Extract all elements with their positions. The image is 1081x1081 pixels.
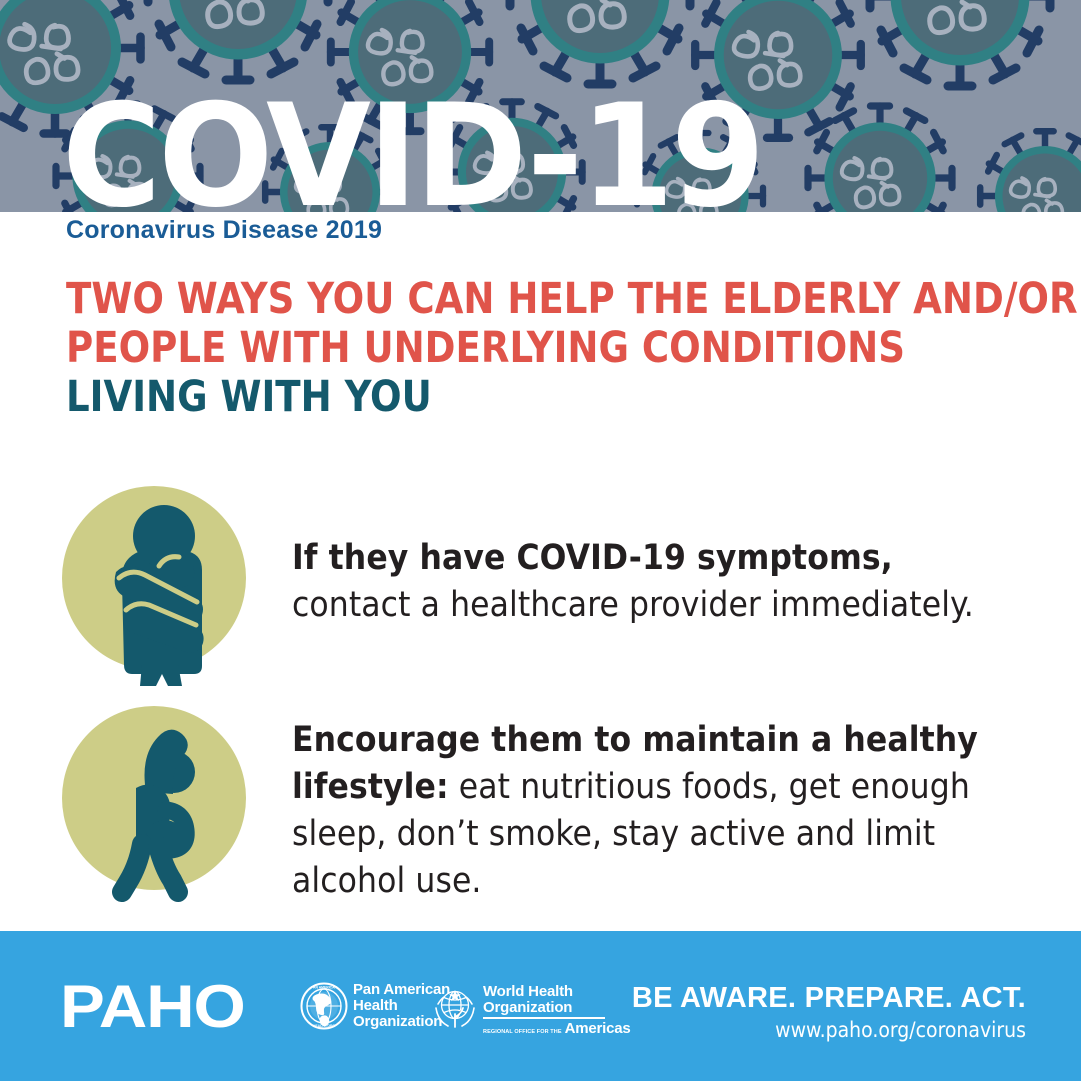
footer-url[interactable]: www.paho.org/coronavirus [775,1018,1026,1042]
who-regional-small: REGIONAL OFFICE FOR THE [483,1029,562,1036]
person-coughing-into-elbow-icon [62,486,246,686]
person-stretching-active-icon [62,706,246,906]
headline-line-3: LIVING WITH YOU [66,373,959,422]
headline-block: TWO WAYS YOU CAN HELP THE ELDERLY AND/OR… [66,275,996,422]
headline-line-1: TWO WAYS YOU CAN HELP THE ELDERLY AND/OR [66,275,959,324]
who-org-line-2: Organization [483,1000,605,1019]
tip-2-icon-wrap [62,706,246,890]
tip-1-icon-wrap [62,486,246,670]
covid-subtitle: Coronavirus Disease 2019 [66,216,382,245]
footer-slogan: BE AWARE. PREPARE. ACT. [632,982,1026,1014]
who-organization-text: World Health Organization REGIONAL OFFIC… [483,984,631,1036]
tip-1-text: If they have COVID-19 symptoms, contact … [292,486,1012,629]
tip-2-text: Encourage them to maintain a healthy lif… [292,706,1012,905]
who-organization-logo: World Health Organization REGIONAL OFFIC… [432,984,631,1036]
who-org-line-1: World Health [483,984,631,1000]
covid-infographic-poster: COVID-19 Coronavirus Disease 2019 TWO WA… [0,0,1081,1081]
header-band: COVID-19 [0,0,1081,212]
who-regional-americas: Americas [565,1021,631,1036]
who-regional-row: REGIONAL OFFICE FOR THE Americas [483,1021,631,1036]
headline-line-2: PEOPLE WITH UNDERLYING CONDITIONS [66,324,959,373]
tip-1-bold: If they have COVID-19 symptoms, [292,538,893,578]
svg-text:PAN AMERICAN: PAN AMERICAN [311,986,338,990]
paho-wordmark: PAHO [60,977,245,1037]
covid-title: COVID-19 [62,86,762,212]
paho-organization-logo: PAN AMERICAN HEALTH ORG Pan American Hea… [300,982,450,1030]
who-emblem-icon [432,984,478,1030]
paho-globe-seal-icon: PAN AMERICAN HEALTH ORG [300,982,348,1030]
tip-1-rest: contact a healthcare provider immediatel… [292,585,974,625]
svg-text:HEALTH ORG: HEALTH ORG [313,1024,336,1028]
tip-item-2: Encourage them to maintain a healthy lif… [62,706,1012,905]
tip-item-1: If they have COVID-19 symptoms, contact … [62,486,1012,670]
